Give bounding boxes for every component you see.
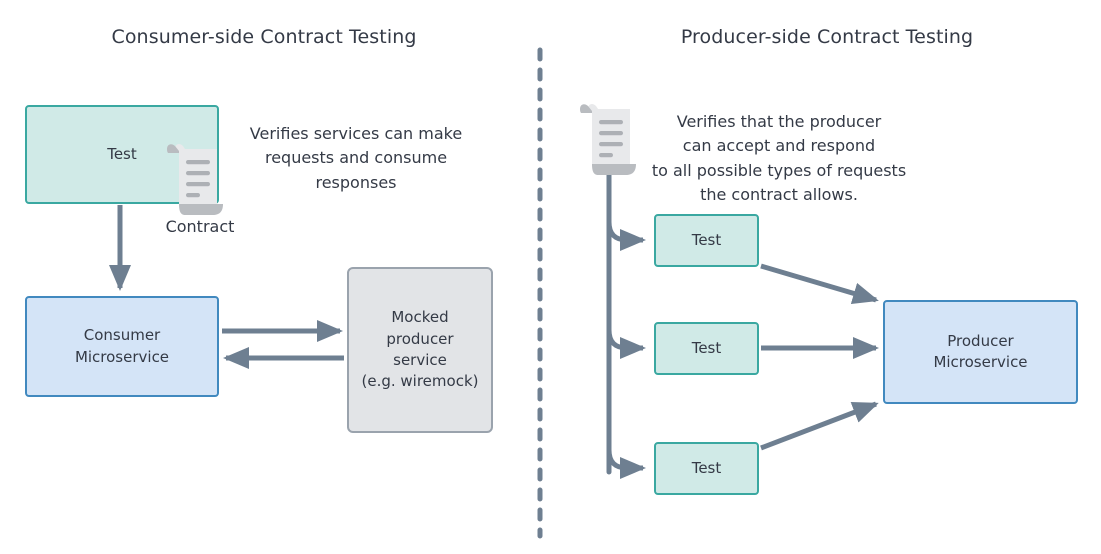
contract-caption: Contract: [140, 217, 260, 236]
right-description: Verifies that the producer can accept an…: [648, 110, 910, 207]
contract-document-icon: [578, 100, 640, 182]
consumer-microservice-box[interactable]: Consumer Microservice: [25, 296, 219, 397]
mocked-producer-service-box[interactable]: Mocked producer service (e.g. wiremock): [347, 267, 493, 433]
producer-test-box-3[interactable]: Test: [654, 442, 759, 495]
arrow-test1-to-producer: [761, 266, 876, 300]
producer-test-box-2[interactable]: Test: [654, 322, 759, 375]
branch-to-test-3: [609, 450, 643, 468]
consumer-microservice-label: Consumer Microservice: [75, 325, 169, 368]
contract-document-icon: [165, 140, 227, 222]
mocked-producer-service-label: Mocked producer service (e.g. wiremock): [362, 307, 479, 392]
branch-to-test-2: [609, 330, 643, 348]
producer-test-label-2: Test: [692, 338, 722, 359]
right-panel-title: Producer-side Contract Testing: [553, 26, 1101, 48]
connectors-layer: [0, 0, 1101, 554]
branch-to-test-1: [609, 222, 643, 240]
producer-microservice-label: Producer Microservice: [933, 331, 1027, 374]
diagram-canvas: Consumer-side Contract Testing Test Cont…: [0, 0, 1101, 554]
arrow-test3-to-producer: [761, 404, 876, 448]
producer-microservice-box[interactable]: Producer Microservice: [883, 300, 1078, 404]
producer-test-label-3: Test: [692, 458, 722, 479]
producer-test-box-1[interactable]: Test: [654, 214, 759, 267]
left-description: Verifies services can make requests and …: [238, 122, 474, 195]
left-panel-title: Consumer-side Contract Testing: [0, 26, 528, 48]
producer-test-label-1: Test: [692, 230, 722, 251]
left-test-box-label: Test: [107, 144, 137, 165]
